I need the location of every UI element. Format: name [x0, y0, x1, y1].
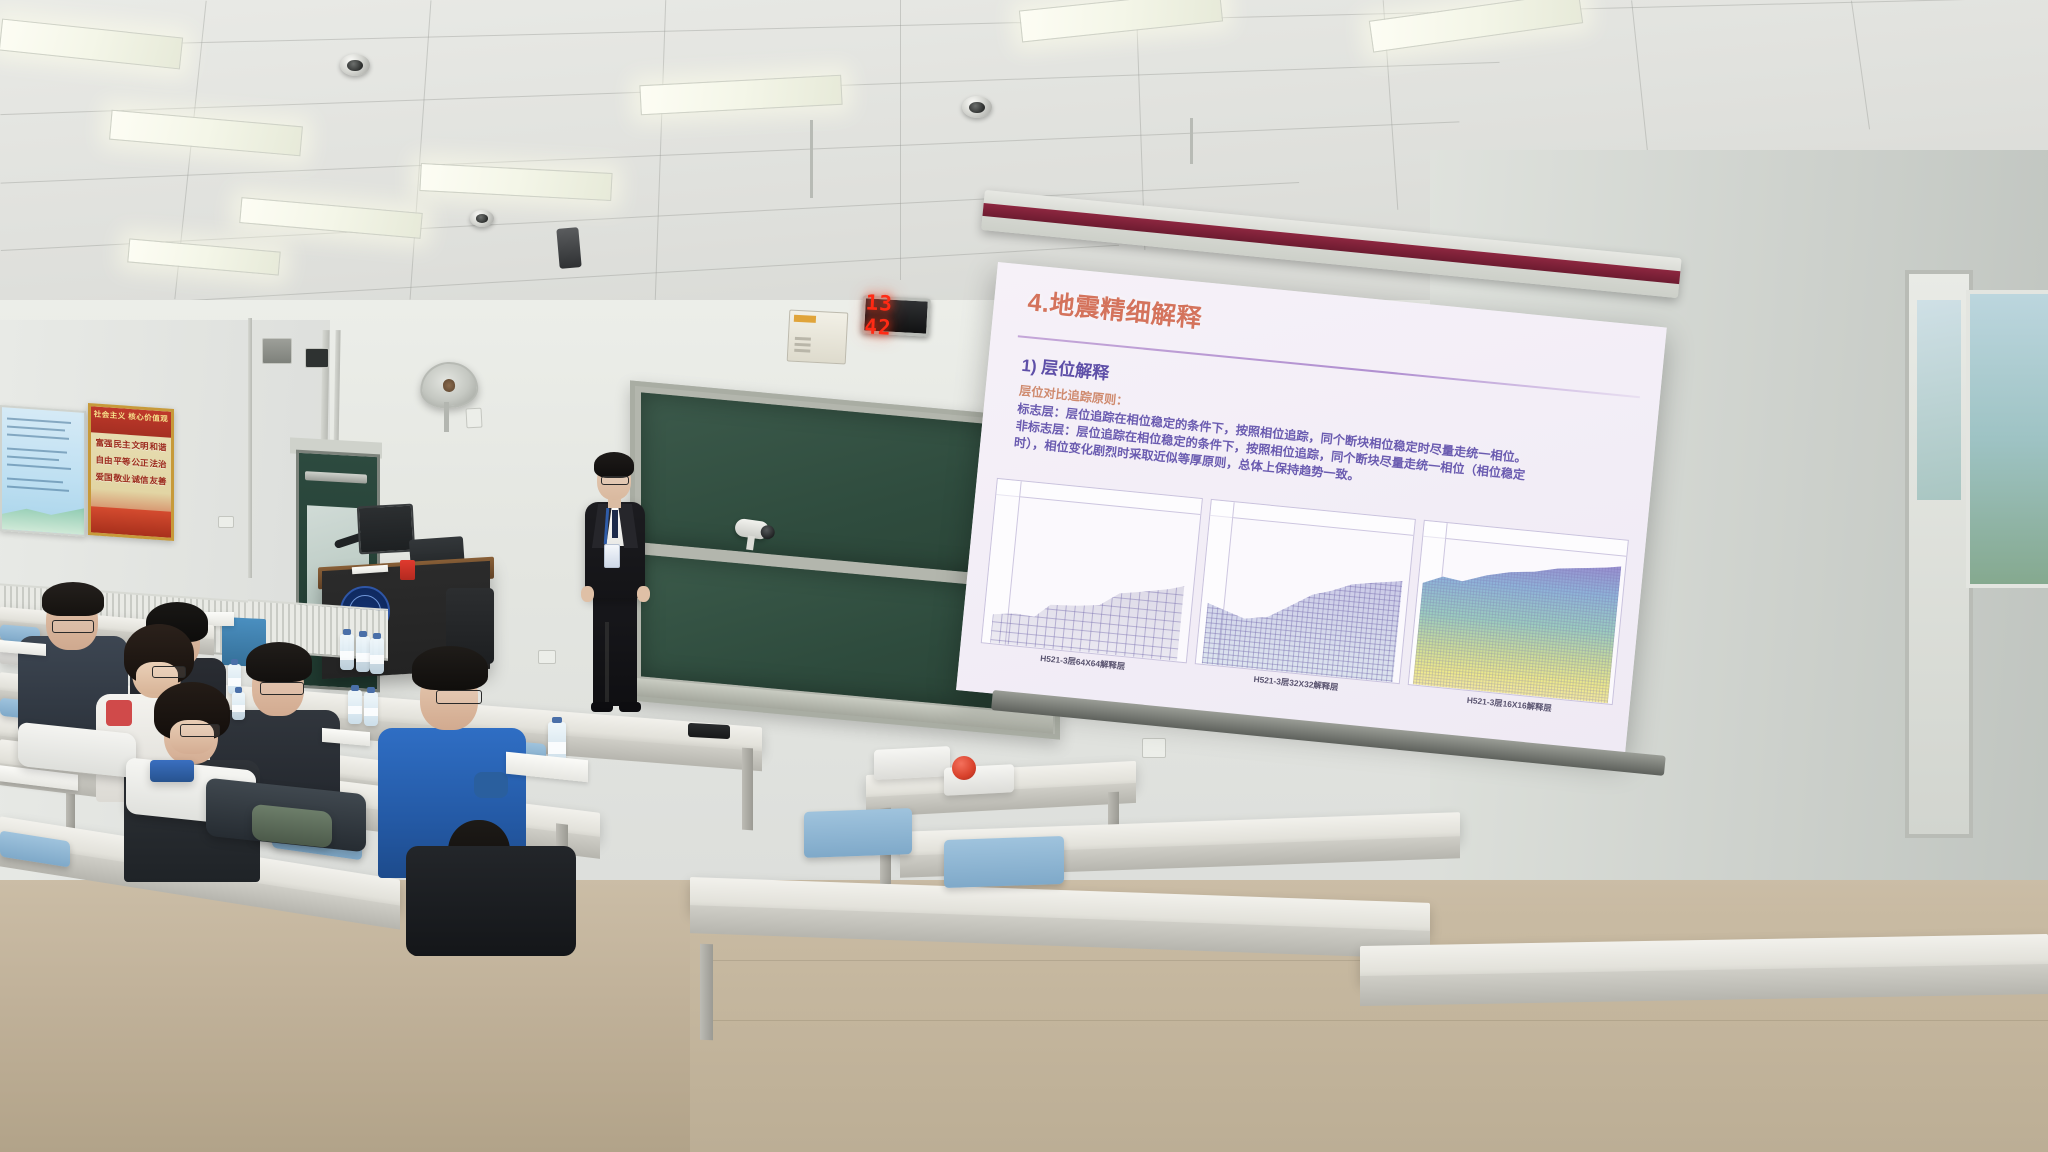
- audience-arm: [474, 772, 508, 798]
- value-item: 诚信: [131, 473, 148, 486]
- audience-glasses: [436, 690, 482, 704]
- seismic-horizon-plot-64: [981, 478, 1203, 663]
- wall-speaker: [556, 227, 581, 269]
- ceiling-hanger-rod: [1190, 118, 1193, 164]
- floor-seam: [700, 1020, 2048, 1021]
- value-item: 公正: [131, 456, 148, 469]
- wall-switch[interactable]: [465, 408, 482, 429]
- red-round-lid[interactable]: [952, 756, 976, 780]
- seismic-horizon-plot-16: [1408, 520, 1630, 705]
- value-item: 平等: [113, 455, 130, 468]
- wall-pipe: [248, 318, 252, 578]
- fan-stem: [444, 402, 449, 432]
- water-bottle[interactable]: [340, 634, 354, 670]
- window: [1966, 290, 2048, 588]
- wall-outlet[interactable]: [1142, 738, 1166, 758]
- desk-leg: [700, 944, 713, 1040]
- value-item: 和谐: [149, 440, 166, 453]
- wall-control-box: [787, 309, 849, 364]
- projection-screen: 4.地震精细解释 1) 层位解释 层位对比追踪原则： 标志层：层位追踪在相位稳定…: [956, 262, 1667, 756]
- water-bottle[interactable]: [356, 636, 370, 672]
- presenter-shoe-right: [619, 702, 641, 712]
- ceiling-tile-line: [900, 0, 901, 280]
- seismic-horizon-plot-32: [1194, 499, 1416, 684]
- slide-subtitle: 1) 层位解释: [1021, 351, 1111, 384]
- audience-hair: [412, 646, 488, 690]
- wall-device: [262, 338, 292, 364]
- foreground-dark-shape: [406, 846, 576, 956]
- information-notice-board: [0, 405, 86, 537]
- slide-figure: H521-3层16X16解释层: [1406, 520, 1629, 720]
- presenter-legs: [593, 594, 637, 706]
- water-bottle[interactable]: [370, 638, 384, 674]
- value-item: 敬业: [113, 472, 130, 485]
- core-socialist-values-poster: 社会主义 核心价值观 富强 民主 文明 和谐 自由 平等 公正 法治 爱国 敬业…: [88, 403, 174, 541]
- presenter-id-badge: [604, 544, 620, 568]
- presenter-tie: [612, 510, 618, 538]
- water-bottle[interactable]: [364, 692, 378, 726]
- classroom-photo: 社会主义 核心价值观 富强 民主 文明 和谐 自由 平等 公正 法治 爱国 敬业…: [0, 0, 2048, 1152]
- audience-glasses: [260, 682, 304, 695]
- slide-title: 4.地震精细解释: [1026, 282, 1204, 335]
- poster-header: 社会主义 核心价值观: [91, 406, 171, 438]
- presenter-hair: [594, 452, 634, 478]
- dome-camera-icon: [962, 96, 992, 118]
- water-bottle[interactable]: [348, 690, 362, 724]
- poster-values: 富强 民主 文明 和谐 自由 平等 公正 法治 爱国 敬业 诚信 友善: [95, 436, 167, 487]
- slide-figure: H521-3层32X32解释层: [1193, 499, 1416, 699]
- wall-outlet[interactable]: [218, 516, 234, 528]
- dome-camera-icon: [470, 210, 494, 227]
- smartphone[interactable]: [688, 723, 730, 739]
- value-item: 爱国: [95, 471, 112, 484]
- chair-blue[interactable]: [804, 808, 912, 858]
- audience-glasses: [180, 724, 220, 737]
- right-classroom-door[interactable]: [1905, 270, 1973, 838]
- white-tray[interactable]: [874, 746, 950, 780]
- dome-camera-icon: [340, 54, 370, 76]
- value-item: 文明: [131, 439, 148, 452]
- presenter-glasses: [601, 476, 629, 485]
- water-bottle[interactable]: [232, 692, 245, 720]
- chair-blue[interactable]: [944, 836, 1064, 888]
- audience-glasses: [52, 620, 94, 633]
- student-presenter: [575, 452, 655, 714]
- wall-device-dark: [305, 348, 329, 368]
- desk-leg: [742, 748, 753, 831]
- value-item: 自由: [95, 454, 112, 467]
- slide-title-rule: [1018, 335, 1640, 398]
- led-wall-clock: 13 42: [861, 295, 931, 337]
- podium-monitor[interactable]: [357, 504, 415, 555]
- value-item: 民主: [113, 438, 130, 451]
- presenter-shoe-left: [591, 702, 613, 712]
- presenter-hand-left: [581, 586, 594, 602]
- audience-hair: [42, 582, 104, 616]
- value-item: 友善: [149, 474, 166, 487]
- presenter-hand-right: [637, 586, 650, 602]
- blue-item[interactable]: [150, 760, 194, 782]
- value-item: 富强: [95, 437, 112, 450]
- clock-time: 13 42: [864, 290, 928, 341]
- value-item: 法治: [149, 457, 166, 470]
- slide-figure: H521-3层64X64解释层: [979, 478, 1202, 678]
- door-closer: [305, 471, 367, 483]
- presentation-slide: 4.地震精细解释 1) 层位解释 层位对比追踪原则： 标志层：层位追踪在相位稳定…: [956, 262, 1667, 756]
- ceiling-hanger-rod: [810, 120, 813, 198]
- wall-outlet[interactable]: [538, 650, 556, 664]
- red-item-on-podium: [400, 560, 415, 580]
- slide-figure-row: H521-3层64X64解释层 H521-3层32X32解释层 H521-3层1…: [979, 478, 1629, 720]
